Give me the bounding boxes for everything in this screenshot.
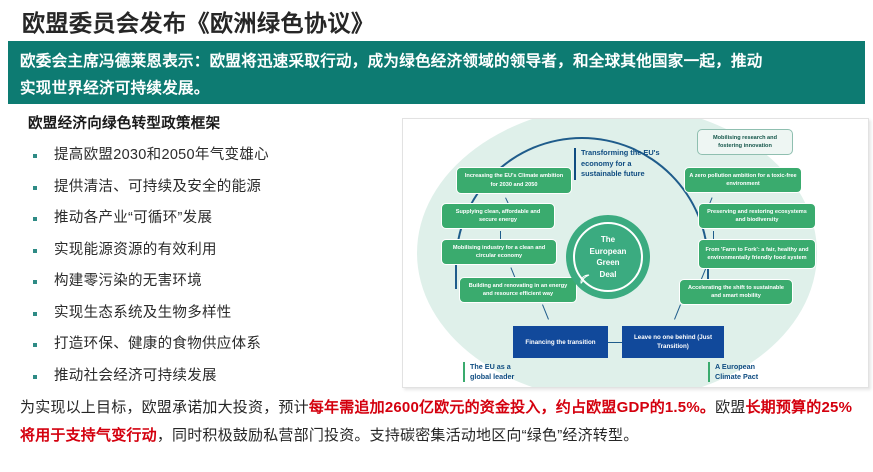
quote-line-2: 实现世界经济可持续发展。 — [20, 75, 855, 102]
list-item: 提高欧盟2030和2050年气变雄心 — [0, 140, 400, 171]
summary-paragraph: 为实现以上目标，欧盟承诺加大投资，预计每年需追加2600亿欧元的资金投入，约占欧… — [20, 394, 860, 450]
list-item-label: 提高欧盟2030和2050年气变雄心 — [54, 147, 269, 163]
green-box-right-4: Accelerating the shift to sustainable an… — [679, 279, 793, 305]
green-box-left-4: Building and renovating in an energy and… — [459, 277, 577, 303]
infographic-headline: Transforming the EU's economy for a sust… — [574, 148, 663, 180]
green-box-right-2: Preserving and restoring ecosystems and … — [698, 203, 816, 229]
bullet-square-icon — [33, 312, 37, 316]
list-item-label: 实现生态系统及生物多样性 — [54, 305, 232, 321]
list-item-label: 推动社会经济可持续发展 — [54, 368, 217, 384]
blue-box-financing: Financing the transition — [513, 326, 608, 358]
list-item: 推动各产业“可循环”发展 — [0, 203, 400, 234]
page-title: 欧盟委员会发布《欧洲绿色协议》 — [22, 4, 375, 38]
list-item: 推动社会经济可持续发展 — [0, 361, 400, 392]
core-line-2: European — [566, 246, 650, 258]
bullet-square-icon — [33, 217, 37, 221]
list-item: 构建零污染的无害环境 — [0, 266, 400, 297]
list-item-label: 构建零污染的无害环境 — [54, 273, 202, 289]
green-box-right-3: From 'Farm to Fork': a fair, healthy and… — [698, 239, 816, 269]
list-item-label: 实现能源资源的有效利用 — [54, 242, 217, 258]
bullet-square-icon — [33, 375, 37, 379]
core-line-1: The — [566, 234, 650, 246]
green-box-right-1: A zero pollution ambition for a toxic-fr… — [684, 167, 802, 193]
footnote-climate-pact: A European Climate Pact — [708, 362, 775, 382]
bullet-square-icon — [33, 186, 37, 190]
green-box-left-3: Mobilising industry for a clean and circ… — [441, 239, 557, 265]
list-item: 打造环保、健康的食物供应体系 — [0, 329, 400, 360]
summary-seg-3: 欧盟 — [715, 399, 745, 416]
bullet-square-icon — [33, 249, 37, 253]
leaf-icon — [579, 273, 591, 285]
quote-banner: 欧委会主席冯德莱恩表示：欧盟将迅速采取行动，成为绿色经济领域的领导者，和全球其他… — [8, 41, 865, 104]
green-deal-infographic: Transforming the EU's economy for a sust… — [402, 118, 869, 388]
summary-seg-5: ，同时积极鼓励私营部门投资。支持碳密集活动地区向“绿色”经济转型。 — [157, 427, 639, 444]
green-box-left-1: Increasing the EU's Climate ambition for… — [456, 167, 572, 194]
core-circle: The European Green Deal — [566, 215, 650, 299]
blue-box-just-transition: Leave no one behind (Just Transition) — [622, 326, 724, 358]
bullet-square-icon — [33, 343, 37, 347]
framework-heading: 欧盟经济向绿色转型政策框架 — [28, 112, 400, 133]
summary-seg-1: 为实现以上目标，欧盟承诺加大投资，预计 — [20, 399, 309, 416]
list-item-label: 推动各产业“可循环”发展 — [54, 210, 212, 226]
green-box-left-2: Supplying clean, affordable and secure e… — [441, 203, 555, 229]
framework-bullet-list: 提高欧盟2030和2050年气变雄心 提供清洁、可持续及安全的能源 推动各产业“… — [0, 140, 400, 391]
summary-highlight-1: 每年需追加2600亿欧元的资金投入，约占欧盟GDP的1.5%。 — [309, 399, 715, 416]
framework-panel: 欧盟经济向绿色转型政策框架 提高欧盟2030和2050年气变雄心 提供清洁、可持… — [0, 112, 400, 392]
list-item: 实现能源资源的有效利用 — [0, 235, 400, 266]
list-item: 实现生态系统及生物多样性 — [0, 298, 400, 329]
connector-line — [608, 342, 622, 343]
quote-line-1: 欧委会主席冯德莱恩表示：欧盟将迅速采取行动，成为绿色经济领域的领导者，和全球其他… — [20, 48, 855, 75]
outline-box-research: Mobilising research and fostering innova… — [697, 129, 793, 155]
footnote-global-leader: The EU as a global leader — [463, 362, 526, 382]
list-item: 提供清洁、可持续及安全的能源 — [0, 172, 400, 203]
bullet-square-icon — [33, 154, 37, 158]
list-item-label: 打造环保、健康的食物供应体系 — [54, 336, 261, 352]
bullet-square-icon — [33, 280, 37, 284]
core-line-3: Green — [566, 257, 650, 269]
list-item-label: 提供清洁、可持续及安全的能源 — [54, 179, 261, 195]
